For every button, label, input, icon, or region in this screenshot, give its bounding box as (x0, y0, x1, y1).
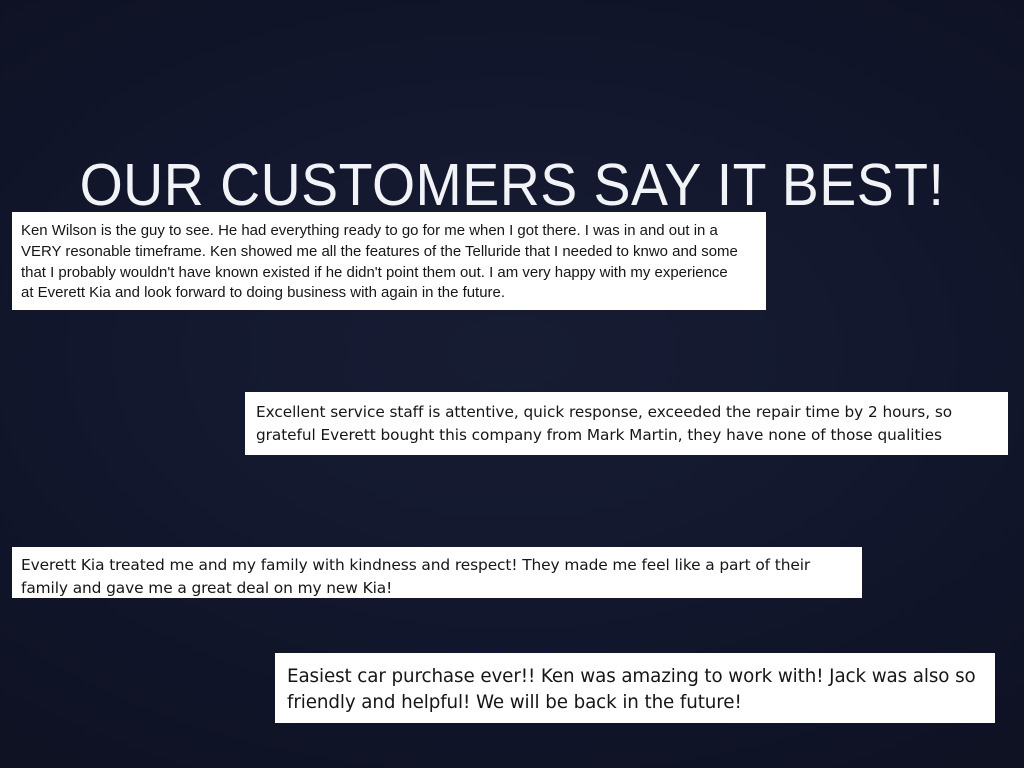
testimonial-card-2: Excellent service staff is attentive, qu… (245, 392, 1008, 455)
page-title: OUR CUSTOMERS SAY IT BEST! (31, 152, 994, 218)
testimonial-text: Ken Wilson is the guy to see. He had eve… (21, 221, 744, 304)
presentation-slide: OUR CUSTOMERS SAY IT BEST! Ken Wilson is… (0, 0, 1024, 768)
testimonial-text: Easiest car purchase ever!! Ken was amaz… (287, 664, 985, 716)
testimonial-card-3: Everett Kia treated me and my family wit… (12, 547, 862, 598)
testimonial-card-1: Ken Wilson is the guy to see. He had eve… (12, 212, 766, 310)
testimonial-card-4: Easiest car purchase ever!! Ken was amaz… (275, 653, 995, 723)
testimonial-text: Excellent service staff is attentive, qu… (256, 401, 998, 446)
testimonial-text: Everett Kia treated me and my family wit… (21, 554, 852, 600)
